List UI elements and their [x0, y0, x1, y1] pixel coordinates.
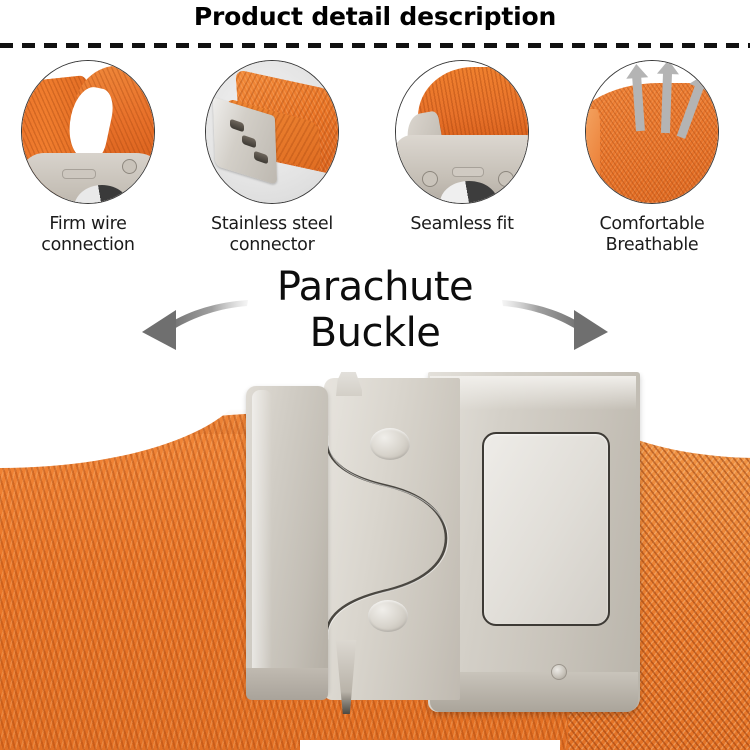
feature-firm-wire-connection: Firm wire connection — [8, 60, 168, 256]
buckle-right-bottom-edge — [430, 672, 638, 712]
page-title: Product detail description — [0, 2, 750, 31]
buckle-tooth-top — [336, 372, 362, 396]
feature-label-firm-wire-connection: Firm wire connection — [8, 214, 168, 256]
feature-label-comfortable-breathable: Comfortable Breathable — [572, 214, 732, 256]
fabric-edge — [585, 109, 600, 204]
case-screw-left — [422, 171, 438, 187]
feature-label-line-1: Seamless fit — [382, 214, 542, 235]
feature-image-comfortable-breathable — [585, 60, 719, 204]
buckle-product-photo — [0, 372, 750, 750]
product-detail-page: Product detail description Firm wire con… — [0, 0, 750, 750]
feature-label-line-1: Stainless steel — [192, 214, 352, 235]
case-screw-right — [498, 171, 514, 187]
feature-label-seamless-fit: Seamless fit — [382, 214, 542, 235]
case-slot — [452, 167, 484, 177]
buckle-heading: Parachute Buckle — [0, 264, 750, 356]
buckle-left-tab-highlight — [252, 390, 272, 690]
feature-label-line-2: Breathable — [572, 235, 732, 256]
curved-arrow-right-icon — [500, 296, 610, 358]
case-screw-left — [36, 189, 51, 204]
feature-label-line-1: Comfortable — [572, 214, 732, 235]
feature-label-line-2: connector — [192, 235, 352, 256]
feature-label-stainless-steel-connector: Stainless steel connector — [192, 214, 352, 256]
buckle-heading-line-2: Buckle — [0, 310, 750, 356]
feature-label-line-1: Firm wire — [8, 214, 168, 235]
header-dashed-divider — [0, 43, 750, 48]
photo-mask-bottom — [300, 740, 560, 750]
feature-image-seamless-fit — [395, 60, 529, 204]
buckle-heading-line-1: Parachute — [0, 264, 750, 310]
feature-comfortable-breathable: Comfortable Breathable — [572, 60, 732, 256]
feature-image-firm-wire-connection — [21, 60, 155, 204]
feature-label-line-2: connection — [8, 235, 168, 256]
buckle-rivet — [551, 664, 567, 680]
curved-arrow-left-icon — [140, 296, 250, 358]
breathable-fabric — [585, 83, 719, 204]
buckle-right-plate-highlight — [430, 376, 636, 410]
case-screw-right — [122, 159, 137, 174]
feature-seamless-fit: Seamless fit — [382, 60, 542, 235]
buckle-left-tab-foot — [246, 668, 328, 700]
feature-image-stainless-steel-connector — [205, 60, 339, 204]
buckle-s-curve-seam — [318, 422, 498, 652]
feature-stainless-steel-connector: Stainless steel connector — [192, 60, 352, 256]
buckle-recessed-window — [482, 432, 610, 626]
case-slot — [62, 169, 96, 179]
